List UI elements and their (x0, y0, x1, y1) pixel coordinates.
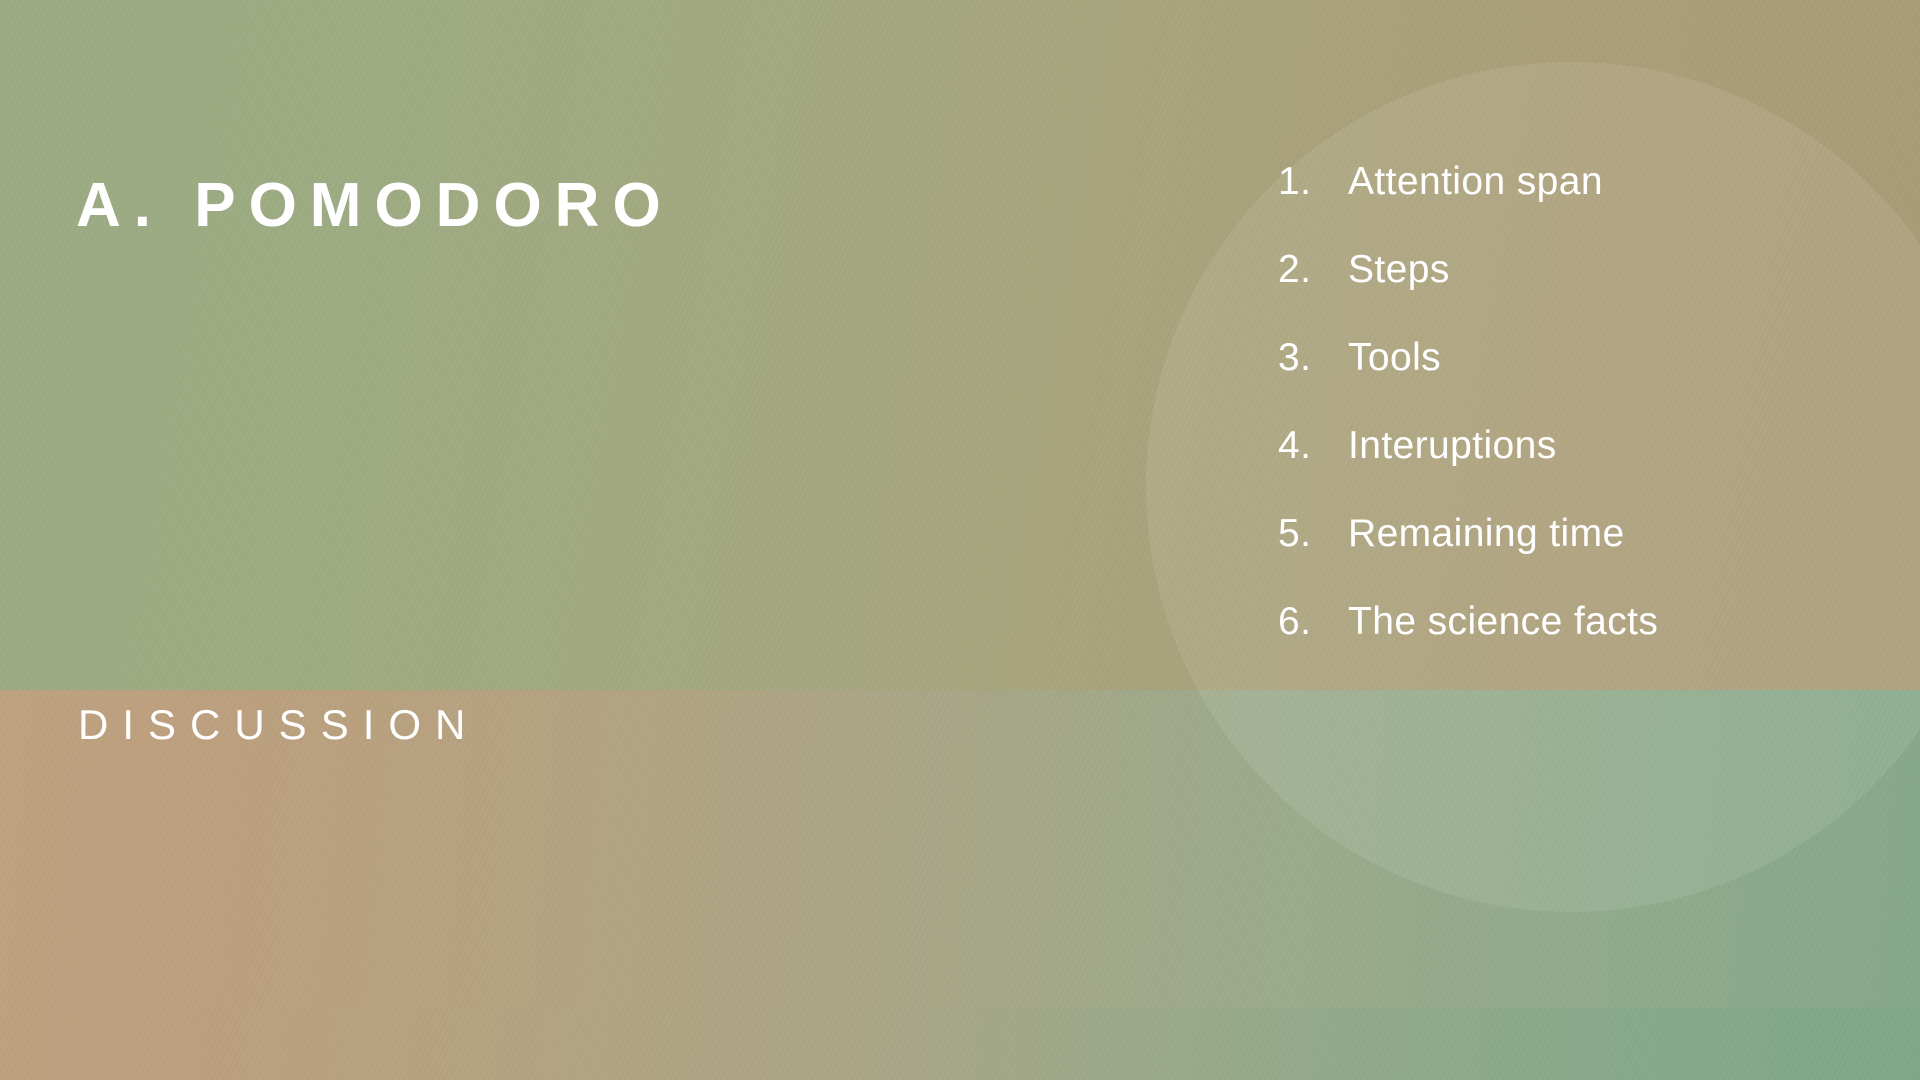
agenda-list: 1. Attention span 2. Steps 3. Tools 4. I… (1278, 160, 1878, 688)
list-item: 3. Tools (1278, 336, 1878, 424)
list-item: 6. The science facts (1278, 600, 1878, 688)
list-item-label: The science facts (1348, 600, 1658, 644)
list-item: 2. Steps (1278, 248, 1878, 336)
list-item-number: 1. (1278, 160, 1348, 204)
list-item-label: Steps (1348, 248, 1450, 292)
list-item-number: 6. (1278, 600, 1348, 644)
list-item-number: 2. (1278, 248, 1348, 292)
list-item-number: 5. (1278, 512, 1348, 556)
list-item-label: Remaining time (1348, 512, 1625, 556)
list-item: 4. Interuptions (1278, 424, 1878, 512)
list-item-label: Attention span (1348, 160, 1603, 204)
list-item: 1. Attention span (1278, 160, 1878, 248)
slide-content: A. POMODORO DISCUSSION 1. Attention span… (0, 0, 1920, 1080)
list-item-label: Tools (1348, 336, 1441, 380)
list-item-label: Interuptions (1348, 424, 1557, 468)
list-item-number: 4. (1278, 424, 1348, 468)
list-item-number: 3. (1278, 336, 1348, 380)
presentation-slide: A. POMODORO DISCUSSION 1. Attention span… (0, 0, 1920, 1080)
page-title: A. POMODORO (76, 175, 674, 237)
list-item: 5. Remaining time (1278, 512, 1878, 600)
slide-subtitle: DISCUSSION (78, 704, 479, 746)
